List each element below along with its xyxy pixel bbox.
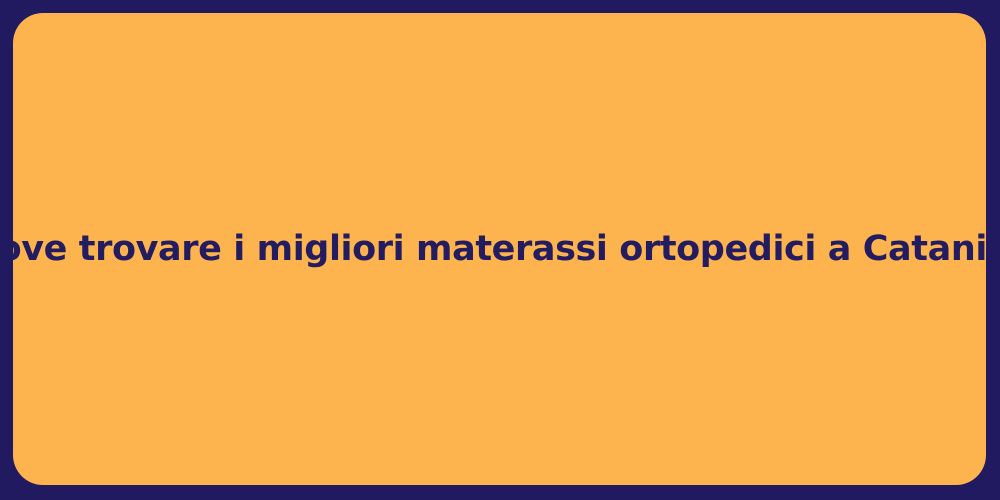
content-card: Dove trovare i migliori materassi ortope…: [13, 13, 986, 485]
page-background: Dove trovare i migliori materassi ortope…: [0, 0, 1000, 500]
page-title: Dove trovare i migliori materassi ortope…: [13, 227, 986, 272]
card-content-wrapper: Dove trovare i migliori materassi ortope…: [13, 227, 986, 272]
